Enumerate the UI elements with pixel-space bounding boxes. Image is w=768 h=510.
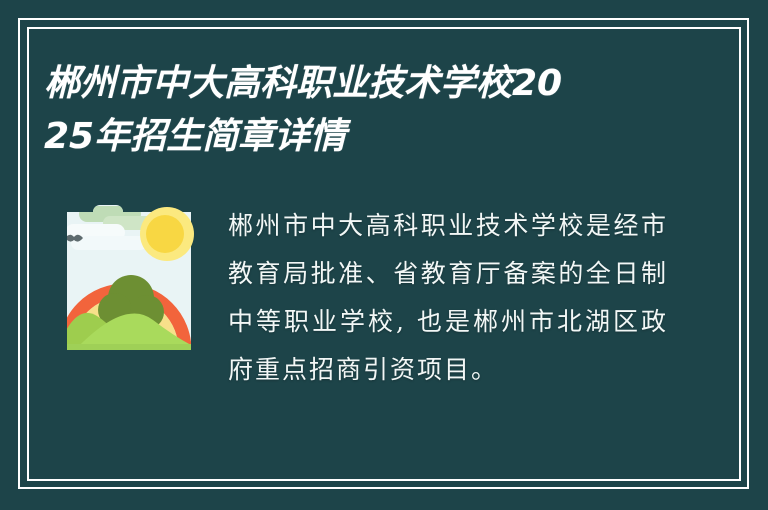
ground-strip (57, 344, 201, 352)
poster-canvas: 郴州市中大高科职业技术学校20 25年招生简章详情 (0, 0, 768, 510)
sun-icon (140, 207, 194, 261)
landscape-rainbow-icon (57, 198, 201, 358)
article-body: 郴州市中大高科职业技术学校是经市教育局批准、省教育厅备案的全日制中等职业学校, … (228, 198, 668, 394)
page-title-line-2: 25年招生简章详情 (44, 110, 684, 163)
content-row: 郴州市中大高科职业技术学校是经市教育局批准、省教育厅备案的全日制中等职业学校, … (0, 198, 768, 394)
page-title: 郴州市中大高科职业技术学校20 25年招生简章详情 (44, 57, 684, 163)
page-title-line-1: 郴州市中大高科职业技术学校20 (44, 57, 684, 110)
